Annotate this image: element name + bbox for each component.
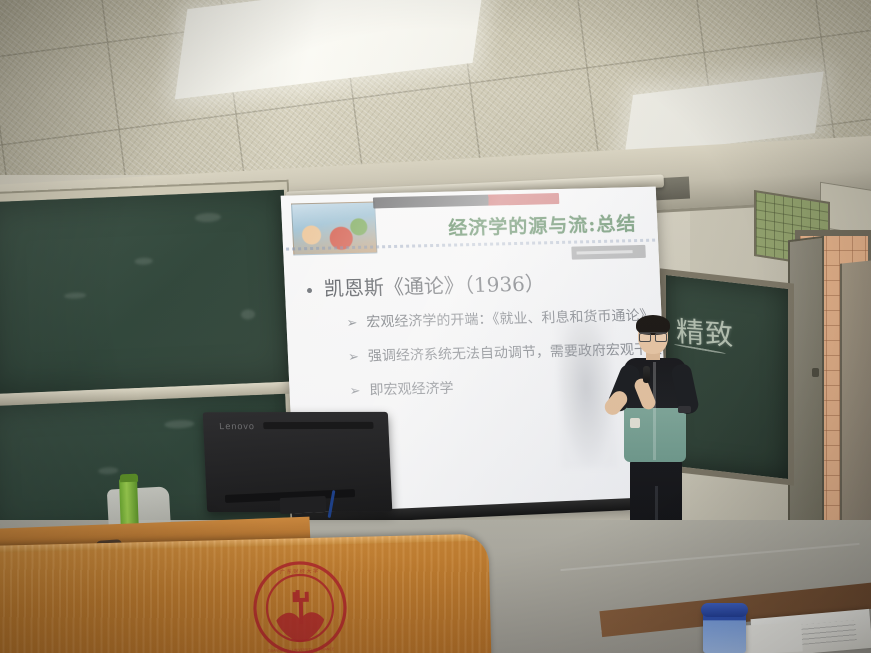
svg-text:广 东 财 经 大 学: 广 东 财 经 大 学: [280, 568, 318, 576]
slide-title: 经济学的源与流:总结: [432, 209, 653, 241]
chalk-smudge: [98, 467, 118, 475]
slide-main-bullet: 凯恩斯《通论》（1936）: [306, 267, 545, 302]
floor-tile-seam: [560, 543, 859, 571]
bullet-dot-icon: [307, 288, 312, 293]
left-blackboard-upper: [0, 190, 292, 394]
slide-sub-bullet-3: ➢即宏观经济学: [349, 378, 454, 401]
door-knob-icon[interactable]: [812, 368, 819, 377]
presenter-wristwatch: [678, 406, 691, 413]
arrow-bullet-icon: ➢: [346, 316, 358, 331]
chalk-smudge: [164, 420, 194, 429]
presenter-shirt-placket: [653, 362, 656, 460]
chalk-smudge: [241, 309, 255, 320]
slide-header-bar: [373, 193, 559, 209]
chalk-smudge: [135, 257, 153, 265]
slide-corner-chip: [571, 245, 646, 260]
presenter-shadow-on-screen: [555, 318, 618, 469]
arrow-bullet-icon: ➢: [348, 350, 360, 365]
microphone-icon: [643, 366, 650, 383]
eyeglasses-icon: [639, 332, 667, 340]
chalk-smudge: [64, 292, 86, 299]
classroom-scene: 精致 经济学的源与流:总结 凯恩斯《通论》（1936） ➢宏观经济学的开端：《就…: [0, 0, 871, 653]
podium-wood-grain: [0, 534, 492, 653]
wooden-podium: [0, 534, 492, 653]
slide-main-bullet-text: 凯恩斯《通论》（1936）: [323, 271, 545, 300]
slide-sub-bullet-3-text: 即宏观经济学: [369, 381, 454, 399]
paper-sheet: [741, 622, 802, 653]
presenter-pocket-badge: [630, 418, 640, 428]
wooden-door-panel[interactable]: [840, 260, 871, 531]
svg-text:GUANGDONG UNIVERSITY OF FINANC: GUANGDONG UNIVERSITY OF FINANCE: [268, 647, 334, 653]
monitor-brand-label: Lenovo: [219, 421, 255, 431]
arrow-bullet-icon: ➢: [349, 384, 361, 399]
university-emblem-logo: 广 东 财 经 大 学 GUANGDONG UNIVERSITY OF FINA…: [251, 559, 349, 653]
bottle-lid: [701, 603, 748, 617]
chalk-smudge: [195, 212, 221, 222]
monitor-vent-slot: [263, 422, 373, 429]
monitor-stand-base: [280, 496, 327, 514]
thermos-cap: [120, 474, 138, 483]
